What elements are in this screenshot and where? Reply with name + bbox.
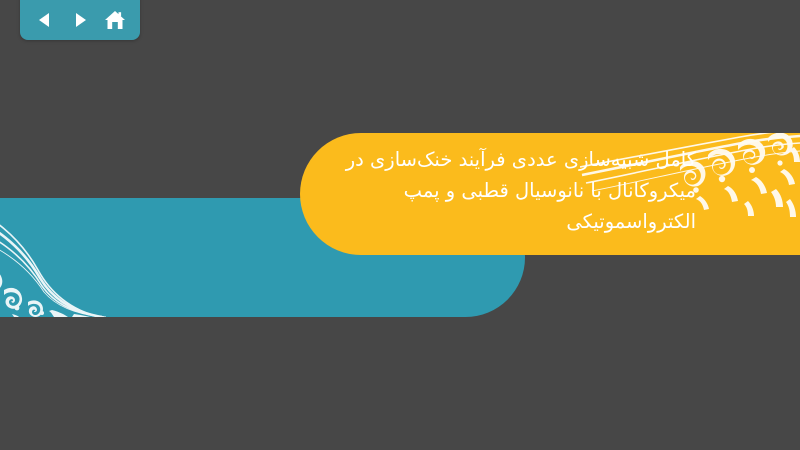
navigation-bar bbox=[20, 0, 140, 40]
back-button[interactable] bbox=[30, 6, 60, 34]
orange-banner-shape bbox=[300, 133, 800, 255]
arabesque-ornament-orange bbox=[580, 133, 800, 255]
home-button[interactable] bbox=[100, 6, 130, 34]
presentation-slide: کامل شبیه‌سازی عددی فرآیند خنک‌سازی در م… bbox=[0, 0, 800, 450]
home-icon bbox=[104, 9, 126, 31]
forward-button[interactable] bbox=[65, 6, 95, 34]
triangle-left-icon bbox=[35, 10, 55, 30]
arabesque-ornament-teal bbox=[0, 198, 160, 317]
triangle-right-icon bbox=[70, 10, 90, 30]
